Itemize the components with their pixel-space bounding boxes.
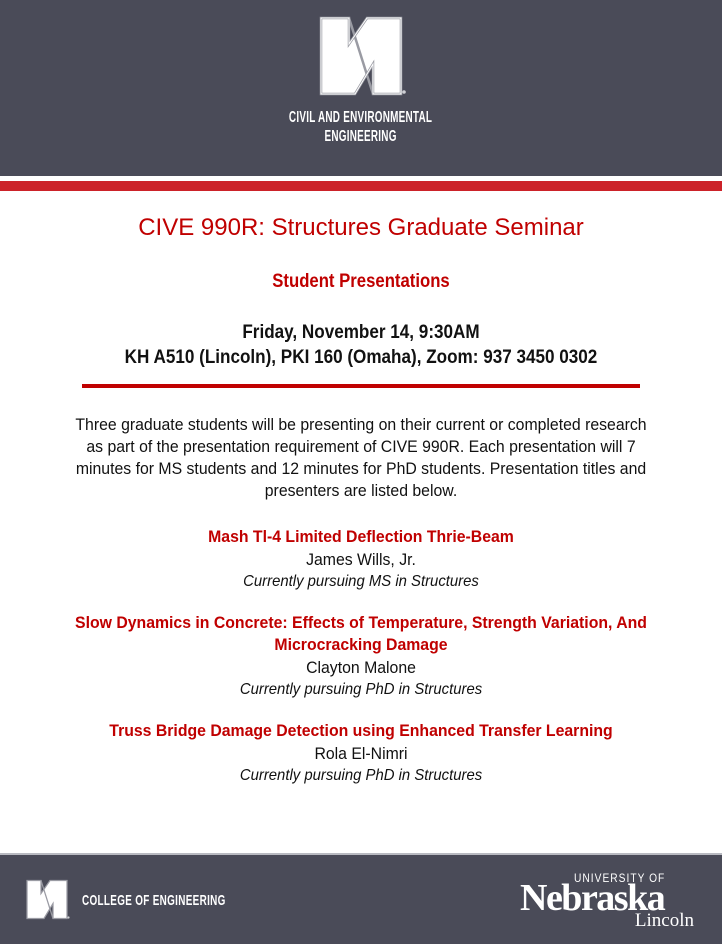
talk-title: Slow Dynamics in Concrete: Effects of Te… (54, 612, 668, 656)
talk-title: Truss Bridge Damage Detection using Enha… (54, 720, 668, 742)
page-footer: COLLEGE OF ENGINEERING UNIVERSITY OF Neb… (0, 855, 722, 944)
footer-wordmark-group: UNIVERSITY OF Nebraska Lincoln (520, 869, 700, 931)
talk-presenter: Rola El-Nimri (54, 743, 668, 765)
nebraska-lincoln-wordmark: UNIVERSITY OF Nebraska Lincoln (520, 869, 700, 931)
page-subtitle: Student Presentations (43, 270, 678, 294)
flyer-page: CIVIL AND ENVIRONMENTAL ENGINEERING CIVE… (0, 0, 722, 944)
red-divider-rule (82, 384, 640, 388)
header-unit-line-2: ENGINEERING (289, 127, 432, 146)
intro-paragraph: Three graduate students will be presenti… (74, 414, 649, 502)
talk-status: Currently pursuing MS in Structures (54, 571, 668, 593)
talk-title: Mash Tl-4 Limited Deflection Thrie-Beam (54, 526, 668, 548)
nebraska-n-logo-icon (315, 14, 407, 100)
talk-status: Currently pursuing PhD in Structures (54, 679, 668, 701)
event-details: Friday, November 14, 9:30AM KH A510 (Lin… (36, 320, 686, 370)
talk-item: Slow Dynamics in Concrete: Effects of Te… (31, 612, 691, 701)
wordmark-lincoln-line: Lincoln (635, 911, 694, 930)
header-unit-name: CIVIL AND ENVIRONMENTAL ENGINEERING (289, 108, 432, 146)
page-title: CIVE 990R: Structures Graduate Seminar (0, 213, 722, 243)
page-header: CIVIL AND ENVIRONMENTAL ENGINEERING (0, 0, 722, 176)
event-location: KH A510 (Lincoln), PKI 160 (Omaha), Zoom… (36, 345, 686, 370)
talk-presenter: Clayton Malone (54, 657, 668, 679)
header-red-band (0, 181, 722, 191)
footer-college-label: COLLEGE OF ENGINEERING (82, 892, 226, 909)
event-datetime: Friday, November 14, 9:30AM (36, 320, 686, 345)
nebraska-n-logo-icon (24, 871, 70, 929)
talk-presenter: James Wills, Jr. (54, 549, 668, 571)
talk-status: Currently pursuing PhD in Structures (54, 765, 668, 787)
header-unit-line-1: CIVIL AND ENVIRONMENTAL (289, 108, 432, 127)
talk-item: Truss Bridge Damage Detection using Enha… (31, 720, 691, 787)
divider-wrap (0, 384, 722, 388)
flyer-content: CIVE 990R: Structures Graduate Seminar S… (0, 191, 722, 806)
talks-list: Mash Tl-4 Limited Deflection Thrie-Beam … (0, 526, 722, 787)
header-logo-group: CIVIL AND ENVIRONMENTAL ENGINEERING (245, 14, 476, 146)
talk-item: Mash Tl-4 Limited Deflection Thrie-Beam … (31, 526, 691, 593)
footer-college-group: COLLEGE OF ENGINEERING (24, 871, 300, 929)
